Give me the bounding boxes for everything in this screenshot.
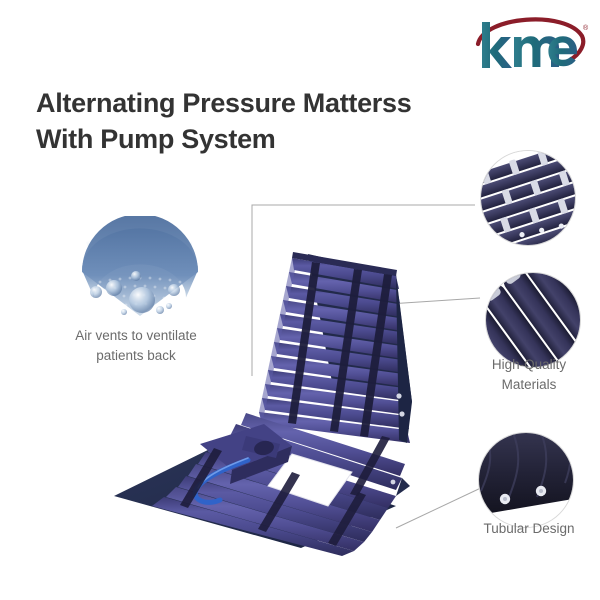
title-line-2: With Pump System	[36, 122, 466, 158]
label-tubular-design: Tubular Design	[458, 519, 600, 539]
page-title: Alternating Pressure Matterss With Pump …	[36, 86, 466, 157]
label-high-quality-materials: High-Quality Materials	[463, 355, 595, 394]
tubular-closeup-photo	[478, 432, 574, 528]
logo-wordmark	[482, 22, 577, 68]
materials-label-line-1: High-Quality	[492, 357, 566, 372]
kme-logo: ®	[470, 8, 590, 76]
infographic-page: ® Alternating Pressure Matterss With Pum…	[0, 0, 600, 600]
callout-tubular-design	[478, 432, 574, 528]
callout-mattress-surface	[480, 150, 576, 246]
callout-high-quality-materials	[485, 272, 581, 368]
mattress-surface-closeup-photo	[480, 150, 576, 246]
material-closeup-photo	[485, 272, 581, 368]
registered-trademark-symbol: ®	[583, 24, 589, 32]
diagonal-tube-rows	[486, 273, 580, 367]
product-image-mattress	[96, 196, 456, 556]
materials-label-line-2: Materials	[502, 377, 557, 392]
tubular-label-line-1: Tubular Design	[483, 521, 574, 536]
title-line-1: Alternating Pressure Matterss	[36, 88, 411, 118]
